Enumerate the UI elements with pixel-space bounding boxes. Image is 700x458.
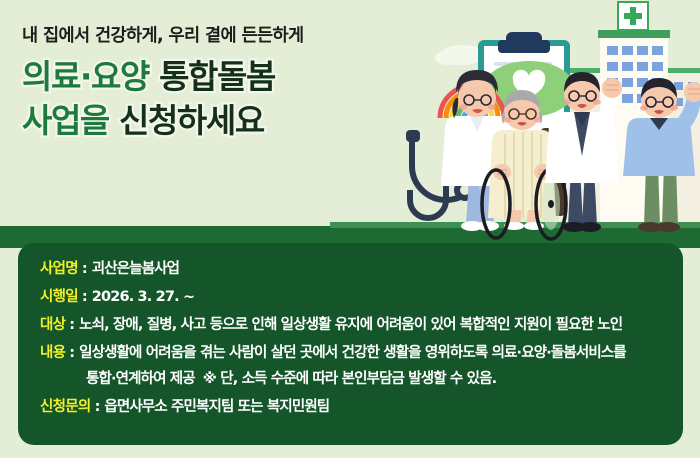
info-separator: : <box>65 317 79 333</box>
info-value: 일상생활에 어려움을 겪는 사람이 살던 곳에서 건강한 생활을 영위하도록 의… <box>79 341 626 362</box>
info-label: 대상 <box>40 313 65 334</box>
info-separator: : <box>91 399 105 415</box>
info-row-content: 내용 : 일상생활에 어려움을 겪는 사람이 살던 곳에서 건강한 생활을 영위… <box>18 341 683 362</box>
title-line-2-part-2: 신청하세요 <box>119 101 264 140</box>
info-separator: : <box>65 345 79 361</box>
info-continuation-text: 통합·연계하여 제공 <box>86 367 195 388</box>
info-value: 읍면사무소 주민복지팀 또는 복지민원팀 <box>104 395 329 416</box>
info-label: 시행일 <box>40 285 78 306</box>
title-line-1-part-1: 의료·요양 <box>22 57 149 96</box>
title-line-2-part-1: 사업을 <box>22 101 109 140</box>
info-row-target: 대상 : 노쇠, 장애, 질병, 사고 등으로 인해 일상생활 유지에 어려움이… <box>18 313 683 334</box>
info-row-start-date: 시행일 : 2026. 3. 27. ~ <box>18 285 683 306</box>
headline-block: 내 집에서 건강하게, 우리 곁에 든든하게 의료·요양 통합돌봄 사업을 신청… <box>22 26 422 142</box>
eyebrow-text: 내 집에서 건강하게, 우리 곁에 든든하게 <box>22 26 422 47</box>
title-line-1: 의료·요양 통합돌봄 <box>22 56 422 98</box>
info-label: 사업명 <box>40 257 78 278</box>
info-label: 내용 <box>40 341 65 362</box>
info-row-contact: 신청문의 : 읍면사무소 주민복지팀 또는 복지민원팀 <box>18 395 683 416</box>
info-note-text: ※ 단, 소득 수준에 따라 본인부담금 발생할 수 있음. <box>195 367 496 388</box>
program-info-panel: 사업명 : 괴산은늘봄사업 시행일 : 2026. 3. 27. ~ 대상 : … <box>18 243 683 445</box>
info-value: 괴산은늘봄사업 <box>92 257 179 278</box>
info-row-content-continuation: 통합·연계하여 제공 ※ 단, 소득 수준에 따라 본인부담금 발생할 수 있음… <box>18 367 683 388</box>
care-program-banner: 내 집에서 건강하게, 우리 곁에 든든하게 의료·요양 통합돌봄 사업을 신청… <box>0 0 700 458</box>
info-separator: : <box>78 261 92 277</box>
title-line-2: 사업을 신청하세요 <box>22 100 422 142</box>
info-value: 노쇠, 장애, 질병, 사고 등으로 인해 일상생활 유지에 어려움이 있어 복… <box>79 313 622 334</box>
info-row-program-name: 사업명 : 괴산은늘봄사업 <box>18 257 683 278</box>
info-separator: : <box>78 289 92 305</box>
info-label: 신청문의 <box>40 395 91 416</box>
title-line-1-part-2: 통합돌봄 <box>159 57 275 96</box>
info-value: 2026. 3. 27. ~ <box>92 289 195 305</box>
